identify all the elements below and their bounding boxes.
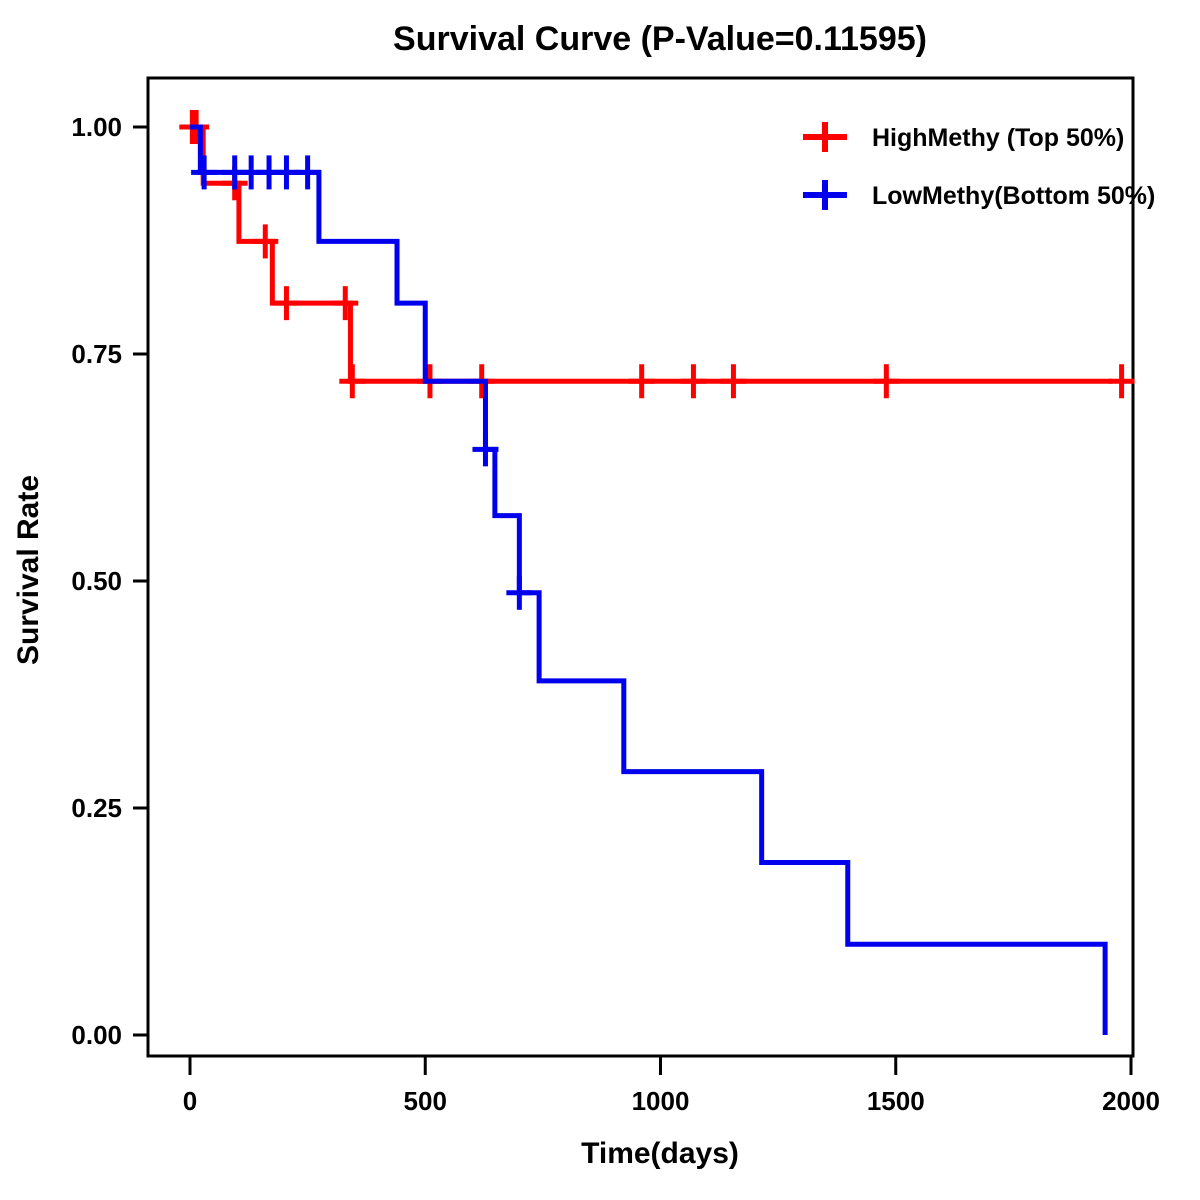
x-tick-label: 2000 xyxy=(1102,1086,1160,1116)
y-axis-title: Survival Rate xyxy=(12,475,45,665)
x-tick-label: 1000 xyxy=(632,1086,690,1116)
y-tick-label: 1.00 xyxy=(71,112,122,142)
legend-label: LowMethy(Bottom 50%) xyxy=(872,182,1155,210)
chart-canvas: Survival Curve (P-Value=0.11595) Surviva… xyxy=(0,0,1200,1200)
y-tick-label: 0.50 xyxy=(71,566,122,596)
legend-label: HighMethy (Top 50%) xyxy=(872,124,1124,152)
chart-title: Survival Curve (P-Value=0.11595) xyxy=(393,20,927,58)
y-tick-label: 0.25 xyxy=(71,793,122,823)
x-tick-label: 500 xyxy=(404,1086,447,1116)
x-tick-label: 1500 xyxy=(867,1086,925,1116)
y-tick-label: 0.00 xyxy=(71,1020,122,1050)
survival-curve-figure: Survival Curve (P-Value=0.11595) Surviva… xyxy=(0,0,1200,1200)
y-tick-label: 0.75 xyxy=(71,339,122,369)
figure-background xyxy=(0,0,1200,1200)
x-axis-title: Time(days) xyxy=(581,1137,739,1170)
x-tick-label: 0 xyxy=(183,1086,197,1116)
